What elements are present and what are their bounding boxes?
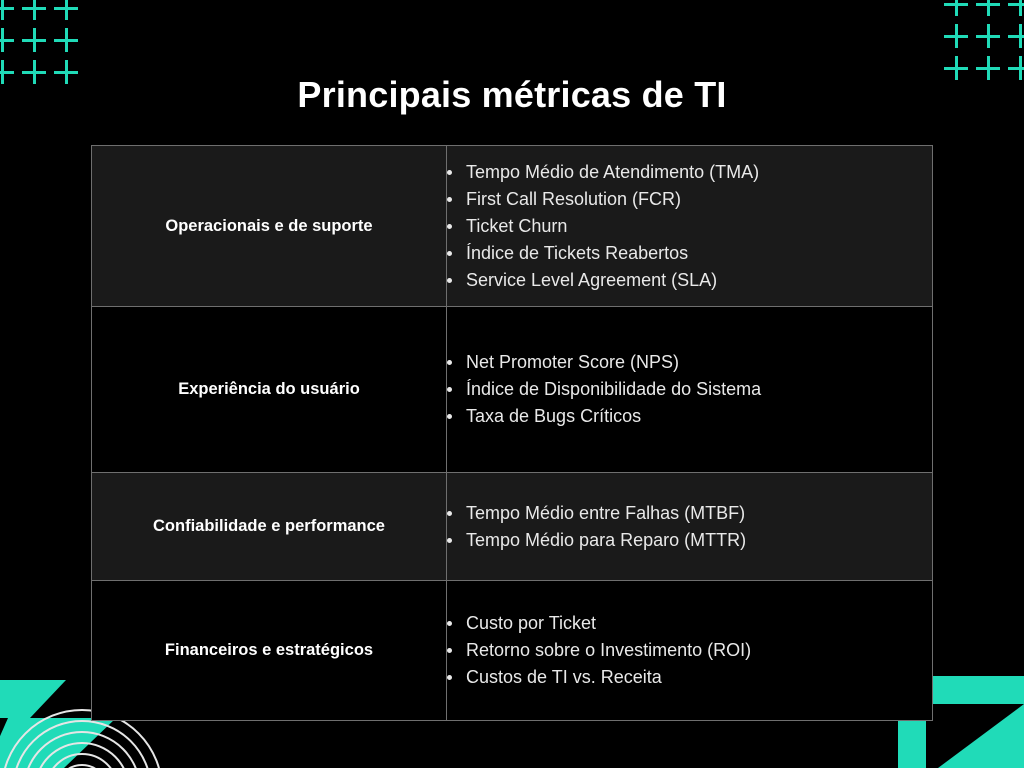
category-cell: Operacionais e de suporte <box>92 146 447 307</box>
plus-icon <box>18 24 50 56</box>
plus-icon <box>18 0 50 24</box>
metrics-list: Tempo Médio de Atendimento (TMA) First C… <box>447 159 932 294</box>
plus-icon <box>0 0 18 24</box>
page-title: Principais métricas de TI <box>0 74 1024 116</box>
slide-canvas: Principais métricas de TI Operacionais e… <box>0 0 1024 768</box>
plus-icon <box>940 0 972 20</box>
list-item: Custo por Ticket <box>447 610 932 637</box>
plus-icon <box>50 24 82 56</box>
metrics-list: Net Promoter Score (NPS) Índice de Dispo… <box>447 349 932 430</box>
list-item: Índice de Disponibilidade do Sistema <box>447 376 932 403</box>
plus-icon <box>1004 20 1024 52</box>
plus-icon <box>1004 0 1024 20</box>
list-item: Índice de Tickets Reabertos <box>447 240 932 267</box>
metrics-table: Operacionais e de suporte Tempo Médio de… <box>91 145 933 721</box>
list-item: Tempo Médio para Reparo (MTTR) <box>447 527 932 554</box>
metrics-list-cell: Tempo Médio entre Falhas (MTBF) Tempo Mé… <box>447 473 933 581</box>
metrics-list-cell: Net Promoter Score (NPS) Índice de Dispo… <box>447 307 933 473</box>
metrics-list-cell: Custo por Ticket Retorno sobre o Investi… <box>447 581 933 721</box>
list-item: Custos de TI vs. Receita <box>447 664 932 691</box>
table-row: Experiência do usuário Net Promoter Scor… <box>92 307 933 473</box>
list-item: Ticket Churn <box>447 213 932 240</box>
metrics-list-cell: Tempo Médio de Atendimento (TMA) First C… <box>447 146 933 307</box>
table-row: Financeiros e estratégicos Custo por Tic… <box>92 581 933 721</box>
table-row: Confiabilidade e performance Tempo Médio… <box>92 473 933 581</box>
metrics-list: Custo por Ticket Retorno sobre o Investi… <box>447 610 932 691</box>
plus-icon <box>972 0 1004 20</box>
plus-grid-top-right-icon <box>940 0 1024 84</box>
list-item: First Call Resolution (FCR) <box>447 186 932 213</box>
category-cell: Confiabilidade e performance <box>92 473 447 581</box>
plus-icon <box>0 24 18 56</box>
list-item: Tempo Médio de Atendimento (TMA) <box>447 159 932 186</box>
metrics-list: Tempo Médio entre Falhas (MTBF) Tempo Mé… <box>447 500 932 554</box>
category-cell: Experiência do usuário <box>92 307 447 473</box>
list-item: Net Promoter Score (NPS) <box>447 349 932 376</box>
plus-icon <box>50 0 82 24</box>
list-item: Taxa de Bugs Críticos <box>447 403 932 430</box>
list-item: Tempo Médio entre Falhas (MTBF) <box>447 500 932 527</box>
plus-icon <box>940 20 972 52</box>
table-row: Operacionais e de suporte Tempo Médio de… <box>92 146 933 307</box>
category-cell: Financeiros e estratégicos <box>92 581 447 721</box>
plus-icon <box>972 20 1004 52</box>
list-item: Service Level Agreement (SLA) <box>447 267 932 294</box>
list-item: Retorno sobre o Investimento (ROI) <box>447 637 932 664</box>
